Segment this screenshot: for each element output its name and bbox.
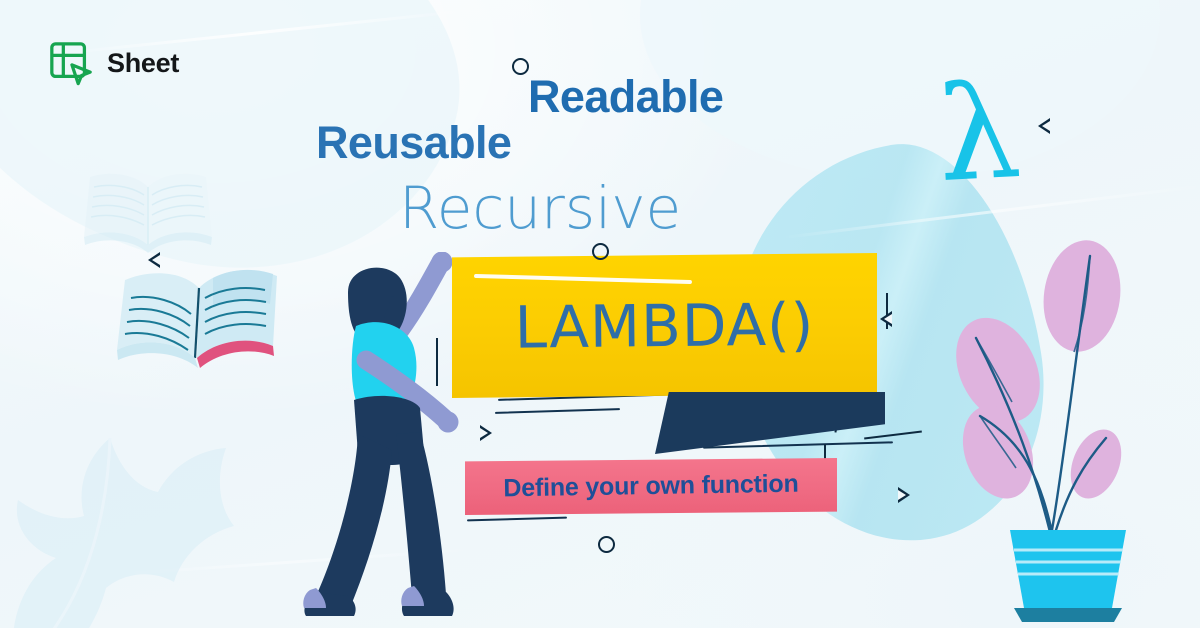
potted-plant-illustration <box>940 230 1200 628</box>
lambda-symbol-icon: λ <box>935 66 1024 200</box>
triangle-left-lambda <box>1038 118 1050 134</box>
heading-recursive: Recursive <box>399 174 681 242</box>
secondary-banner: Define your own function <box>465 458 837 515</box>
ring-bottom <box>598 536 615 553</box>
triangle-left-books <box>148 252 160 268</box>
open-book-ghost <box>78 165 218 265</box>
triangle-right-bottom <box>898 487 910 503</box>
secondary-banner-label: Define your own function <box>465 455 838 518</box>
primary-banner-label: LAMBDA() <box>451 251 877 400</box>
ring-mid <box>592 243 609 260</box>
open-book-pink-spine <box>113 258 283 388</box>
brand-logo[interactable]: Sheet <box>48 40 179 86</box>
heading-reusable: Reusable <box>316 117 511 169</box>
background-leaf-silhouette <box>0 430 290 628</box>
triangle-left-banner-side <box>880 311 892 327</box>
sheet-grid-cursor-icon <box>48 40 94 86</box>
brand-name: Sheet <box>107 48 179 79</box>
banner-canvas: Sheet Readable Reusable Recursive λ <box>0 0 1200 628</box>
primary-banner: LAMBDA() <box>452 253 877 398</box>
ring-top <box>512 58 529 75</box>
triangle-right-banner <box>480 425 492 441</box>
heading-readable: Readable <box>528 71 723 123</box>
